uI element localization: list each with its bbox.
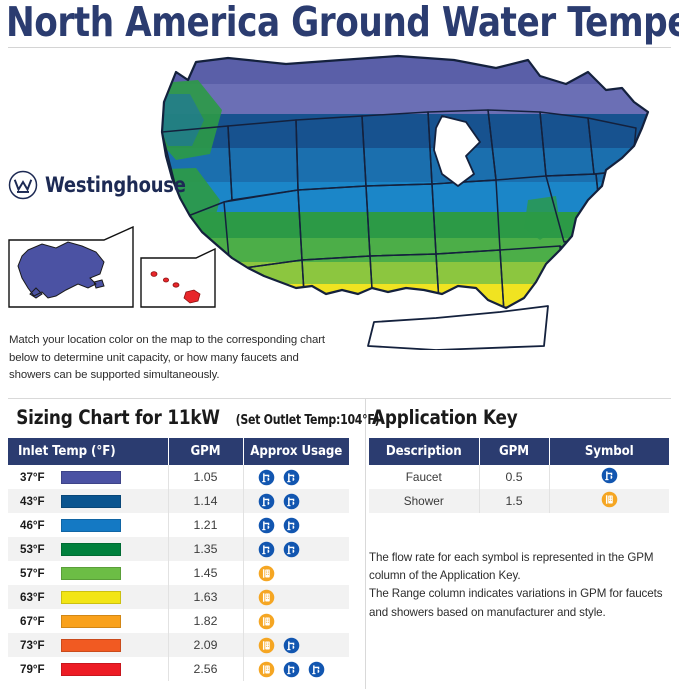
faucet-icon (283, 517, 300, 534)
application-key-title: Application Key (372, 406, 518, 429)
gpm-cell: 1.14 (168, 489, 243, 513)
temperature-color-swatch (61, 495, 121, 508)
inlet-temp-label: 43°F (20, 495, 52, 508)
faucet-icon (258, 469, 275, 486)
key-symbol-cell (549, 465, 669, 489)
inlet-temp-label: 79°F (20, 663, 52, 676)
temperature-color-swatch (61, 471, 121, 484)
faucet-icon (283, 469, 300, 486)
table-row: 73°F2.09 (8, 633, 349, 657)
list-item: Faucet0.5 (369, 465, 669, 489)
table-row: 57°F1.45 (8, 561, 349, 585)
shower-icon (601, 491, 618, 508)
key-description-cell: Faucet (369, 465, 479, 489)
approx-usage-cell (243, 489, 349, 513)
gpm-cell: 1.05 (168, 465, 243, 489)
temperature-color-swatch (61, 639, 121, 652)
key-gpm-cell: 0.5 (479, 465, 549, 489)
faucet-icon (283, 661, 300, 678)
sizing-chart-heading: Sizing Chart for 11kW (Set Outlet Temp:1… (0, 397, 357, 438)
us-ground-water-temperature-map (136, 50, 676, 350)
inlet-temp-label: 46°F (20, 519, 52, 532)
approx-usage-cell (243, 537, 349, 561)
gpm-cell: 2.09 (168, 633, 243, 657)
faucet-icon (283, 493, 300, 510)
gpm-cell: 2.56 (168, 657, 243, 681)
approx-usage-cell (243, 465, 349, 489)
shower-icon (258, 565, 275, 582)
table-row: 53°F1.35 (8, 537, 349, 561)
column-header-key-gpm: GPM (479, 438, 549, 465)
hawaii-inset (140, 248, 216, 308)
temperature-color-swatch (61, 543, 121, 556)
gpm-cell: 1.35 (168, 537, 243, 561)
table-row: 79°F2.56 (8, 657, 349, 681)
table-header-row: Inlet Temp (°F) GPM Approx Usage (8, 438, 349, 465)
column-header-gpm: GPM (168, 438, 243, 465)
temperature-color-swatch (61, 615, 121, 628)
map-section: Westinghouse Match your location color o… (0, 48, 679, 388)
inlet-temp-cell: 46°F (8, 513, 168, 537)
inlet-temp-label: 63°F (20, 591, 52, 604)
inlet-temp-label: 57°F (20, 567, 52, 580)
faucet-icon (601, 467, 618, 484)
shower-icon (258, 589, 275, 606)
inlet-temp-cell: 63°F (8, 585, 168, 609)
gpm-cell: 1.45 (168, 561, 243, 585)
key-symbol-cell (549, 489, 669, 513)
temperature-color-swatch (61, 519, 121, 532)
inlet-temp-label: 67°F (20, 615, 52, 628)
inlet-temp-cell: 43°F (8, 489, 168, 513)
sizing-chart-panel: Sizing Chart for 11kW (Set Outlet Temp:1… (0, 397, 357, 693)
faucet-icon (308, 661, 325, 678)
temperature-color-swatch (61, 663, 121, 676)
approx-usage-cell (243, 609, 349, 633)
inlet-temp-label: 73°F (20, 639, 52, 652)
application-key-table: Description GPM Symbol Faucet0.5Shower1.… (369, 438, 669, 513)
page-title: North America Ground Water Temperature M… (6, 0, 679, 44)
list-item: Shower1.5 (369, 489, 669, 513)
westinghouse-w-circle-icon (8, 170, 38, 200)
inlet-temp-label: 53°F (20, 543, 52, 556)
faucet-icon (283, 541, 300, 558)
sizing-chart-body: 37°F1.0543°F1.1446°F1.2153°F1.3557°F1.45… (8, 465, 349, 681)
table-row: 46°F1.21 (8, 513, 349, 537)
sizing-chart-table: Inlet Temp (°F) GPM Approx Usage 37°F1.0… (8, 438, 349, 681)
application-key-body: Faucet0.5Shower1.5 (369, 465, 669, 513)
application-key-heading: Application Key (357, 397, 679, 438)
column-header-approx-usage: Approx Usage (243, 438, 349, 465)
inlet-temp-cell: 67°F (8, 609, 168, 633)
key-description-cell: Shower (369, 489, 479, 513)
sizing-chart-title: Sizing Chart for 11kW (16, 406, 220, 429)
table-row: 43°F1.14 (8, 489, 349, 513)
shower-icon (258, 661, 275, 678)
instruction-text: Match your location color on the map to … (9, 332, 331, 385)
page-header: North America Ground Water Temperature M… (0, 0, 679, 46)
approx-usage-cell (243, 561, 349, 585)
inlet-temp-cell: 73°F (8, 633, 168, 657)
brand-name: Westinghouse (45, 173, 186, 197)
temperature-color-swatch (61, 591, 121, 604)
gpm-cell: 1.63 (168, 585, 243, 609)
inlet-temp-label: 37°F (20, 471, 52, 484)
key-header-row: Description GPM Symbol (369, 438, 669, 465)
column-header-inlet-temp: Inlet Temp (°F) (8, 438, 168, 465)
application-key-note: The flow rate for each symbol is represe… (369, 549, 669, 622)
table-row: 37°F1.05 (8, 465, 349, 489)
faucet-icon (258, 541, 275, 558)
inlet-temp-cell: 79°F (8, 657, 168, 681)
approx-usage-cell (243, 657, 349, 681)
faucet-icon (258, 493, 275, 510)
alaska-inset (8, 226, 134, 308)
temperature-color-swatch (61, 567, 121, 580)
approx-usage-cell (243, 633, 349, 657)
column-header-symbol: Symbol (549, 438, 669, 465)
application-key-panel: Application Key Description GPM Symbol F… (357, 397, 679, 693)
westinghouse-logo: Westinghouse (8, 170, 193, 200)
gulf-of-mexico (368, 306, 548, 350)
approx-usage-cell (243, 513, 349, 537)
table-row: 63°F1.63 (8, 585, 349, 609)
inlet-temp-cell: 37°F (8, 465, 168, 489)
faucet-icon (283, 637, 300, 654)
key-gpm-cell: 1.5 (479, 489, 549, 513)
temperature-bands (136, 50, 676, 350)
table-row: 67°F1.82 (8, 609, 349, 633)
faucet-icon (258, 517, 275, 534)
gpm-cell: 1.82 (168, 609, 243, 633)
shower-icon (258, 613, 275, 630)
column-header-description: Description (369, 438, 479, 465)
gpm-cell: 1.21 (168, 513, 243, 537)
shower-icon (258, 637, 275, 654)
approx-usage-cell (243, 585, 349, 609)
inlet-temp-cell: 57°F (8, 561, 168, 585)
inlet-temp-cell: 53°F (8, 537, 168, 561)
